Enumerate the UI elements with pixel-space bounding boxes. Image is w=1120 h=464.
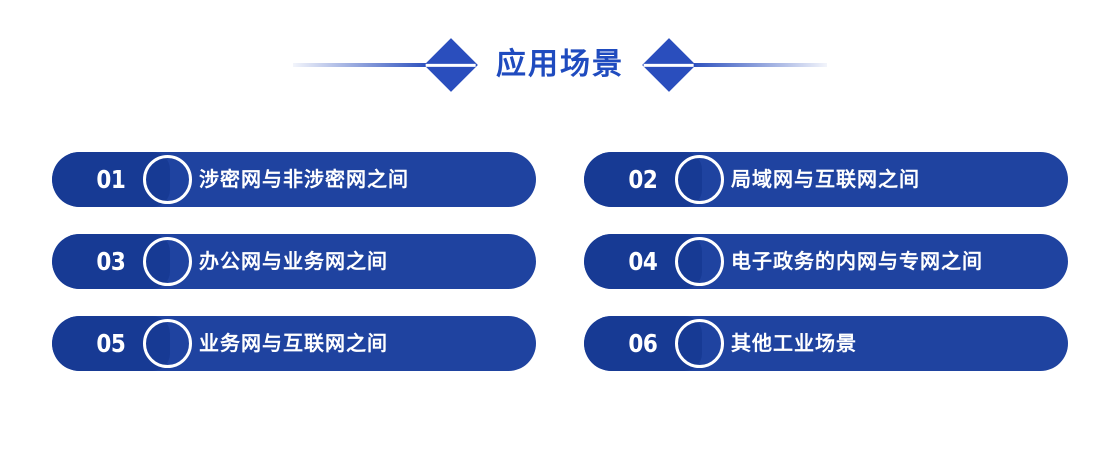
page-title: 应用场景 — [496, 50, 624, 80]
item-label: 局域网与互联网之间 — [731, 170, 920, 190]
item-number-badge: 03 — [52, 234, 170, 289]
item-number: 03 — [96, 249, 125, 274]
item-number-badge: 04 — [584, 234, 702, 289]
arrow-right-line-icon — [293, 63, 441, 67]
item-label: 电子政务的内网与专网之间 — [731, 252, 983, 272]
list-item[interactable]: 06 其他工业场景 — [584, 316, 1068, 371]
list-item[interactable]: 02 局域网与互联网之间 — [584, 152, 1068, 207]
item-label: 办公网与业务网之间 — [199, 252, 388, 272]
list-item[interactable]: 04 电子政务的内网与专网之间 — [584, 234, 1068, 289]
item-number-badge: 06 — [584, 316, 702, 371]
split-diamond-icon-right — [642, 38, 696, 92]
scenario-grid: 01 涉密网与非涉密网之间 02 局域网与互联网之间 03 办公网与业务网之间 … — [52, 152, 1068, 371]
section-header: 应用场景 — [0, 0, 1120, 130]
header-decoration-row: 应用场景 — [0, 33, 1120, 97]
item-number-badge: 05 — [52, 316, 170, 371]
item-number-badge: 01 — [52, 152, 170, 207]
item-number: 06 — [628, 331, 657, 356]
item-number: 05 — [96, 331, 125, 356]
split-diamond-icon-left — [424, 38, 478, 92]
item-label: 其他工业场景 — [731, 334, 857, 354]
item-number: 04 — [628, 249, 657, 274]
item-number: 01 — [96, 167, 125, 192]
item-label: 涉密网与非涉密网之间 — [199, 170, 409, 190]
item-label: 业务网与互联网之间 — [199, 334, 388, 354]
arrow-left-line-icon — [679, 63, 827, 67]
list-item[interactable]: 05 业务网与互联网之间 — [52, 316, 536, 371]
list-item[interactable]: 01 涉密网与非涉密网之间 — [52, 152, 536, 207]
item-number-badge: 02 — [584, 152, 702, 207]
list-item[interactable]: 03 办公网与业务网之间 — [52, 234, 536, 289]
item-number: 02 — [628, 167, 657, 192]
